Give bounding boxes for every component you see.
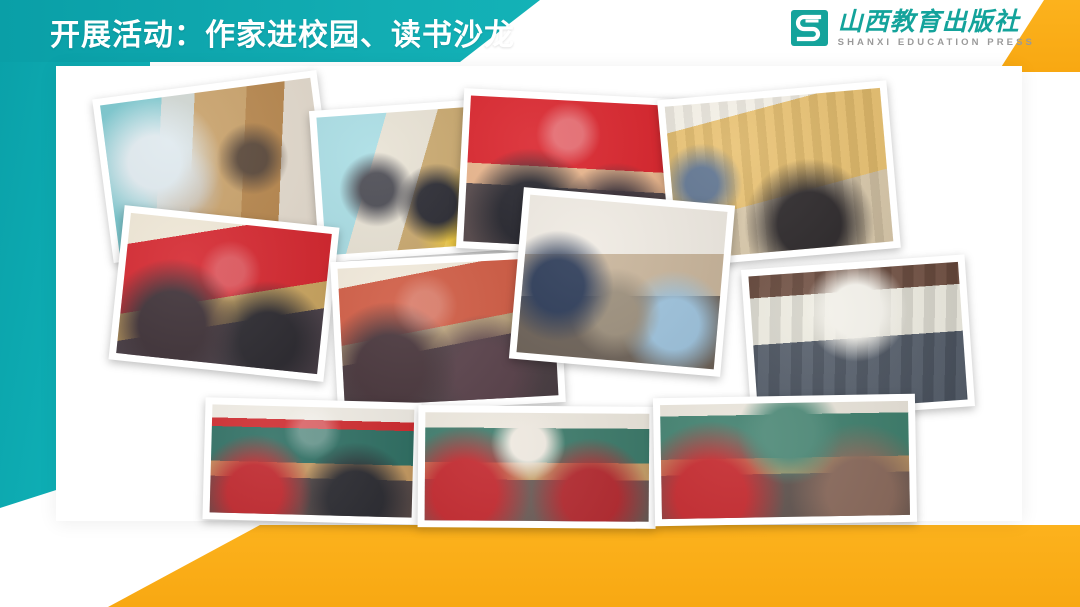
collage-photo [418, 405, 657, 529]
collage-photo [509, 187, 735, 377]
page-title: 开展活动：作家进校园、读书沙龙 [50, 10, 515, 54]
photo-image-class2 [425, 412, 650, 522]
orange-bottom-band [0, 525, 1080, 607]
collage-photo [202, 397, 421, 525]
logo-name-cn: 山西教育出版社 [838, 9, 1035, 34]
collage-photo [108, 205, 339, 382]
brand-logo: 山西教育出版社 SHANXI EDUCATION PRESS [790, 8, 1035, 48]
press-emblem-icon [790, 8, 830, 48]
photo-image-class1 [210, 404, 415, 517]
photo-image-class3 [660, 401, 910, 519]
photo-image-redscreen2 [116, 213, 332, 374]
collage-photo [653, 394, 917, 527]
content-card [56, 66, 1022, 521]
photo-image-giving [516, 195, 727, 370]
photo-collage [56, 66, 1022, 521]
slide: 开展活动：作家进校园、读书沙龙 山西教育出版社 SHANXI EDUCATION… [0, 0, 1080, 607]
logo-name-en: SHANXI EDUCATION PRESS [838, 38, 1035, 48]
photo-image-lecture [748, 262, 967, 414]
